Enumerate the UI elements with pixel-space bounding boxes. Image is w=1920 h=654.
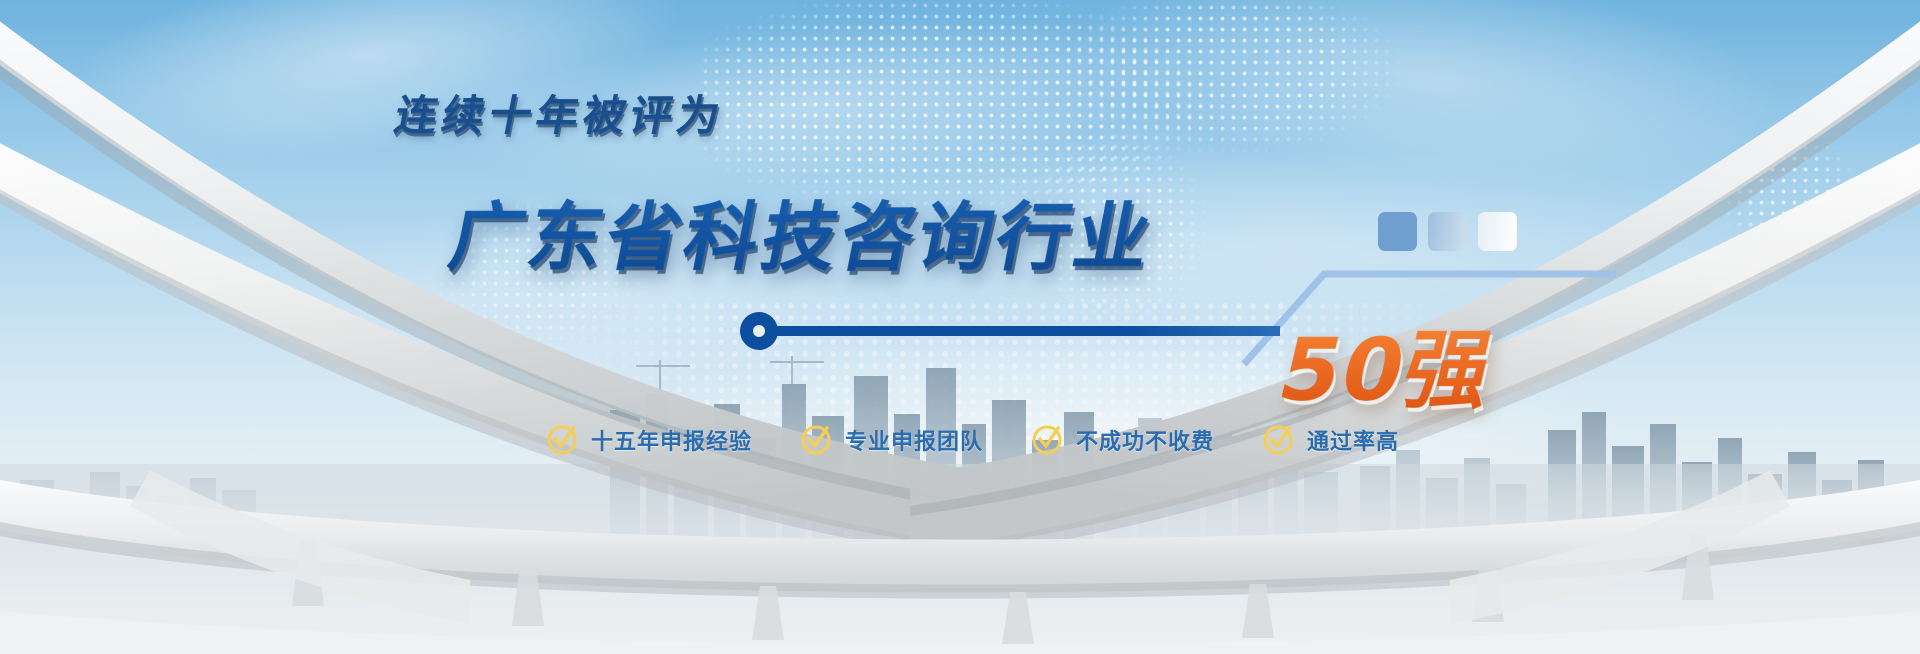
world-map-dots-icon — [380, 190, 670, 380]
feature-label: 专业申报团队 — [845, 424, 983, 456]
square-solid-icon — [1378, 212, 1417, 251]
circle-dot-icon — [740, 312, 778, 350]
square-light-icon — [1478, 212, 1517, 251]
feature-item: 专业申报团队 — [800, 424, 983, 456]
feature-item: 不成功不收费 — [1031, 424, 1214, 456]
feature-list: 十五年申报经验 专业申报团队 不成功不收费 — [546, 424, 1399, 456]
world-map-dots-icon — [700, 0, 1260, 230]
world-map-dots-icon — [1000, 130, 1260, 360]
world-map-dots-icon — [1690, 120, 1890, 290]
world-map-dots-icon — [1030, 0, 1430, 160]
cloud-wisp — [180, 210, 940, 380]
feature-label: 通过率高 — [1307, 424, 1399, 456]
feature-label: 不成功不收费 — [1076, 424, 1214, 456]
square-mid-icon — [1428, 212, 1467, 251]
promo-banner: 连续十年被评为 广东省科技咨询行业 50强 十五年申报经验 专业申报团队 — [0, 0, 1920, 654]
check-circle-icon — [546, 424, 578, 456]
check-circle-icon — [1262, 424, 1294, 456]
square-accent-group — [1378, 212, 1517, 251]
connector-line — [740, 312, 1280, 352]
water-surface — [0, 464, 1920, 654]
check-circle-icon — [1031, 424, 1063, 456]
rank-badge: 50强 — [1269, 300, 1510, 425]
feature-item: 十五年申报经验 — [546, 424, 752, 456]
check-circle-icon — [800, 424, 832, 456]
cloud-wisp — [49, 0, 691, 197]
connector-bar — [770, 326, 1280, 336]
eyebrow-text: 连续十年被评为 — [390, 82, 731, 143]
diagonal-rising-line-icon — [1240, 238, 1620, 368]
cloud-wisp — [1071, 0, 1789, 216]
feature-label: 十五年申报经验 — [591, 424, 752, 456]
hex-dot-pattern-icon — [560, 300, 1440, 440]
page-title: 广东省科技咨询行业 — [442, 178, 1165, 285]
cloud-wisp — [425, 0, 1195, 213]
cloud-wisp — [840, 150, 1740, 340]
feature-item: 通过率高 — [1262, 424, 1399, 456]
